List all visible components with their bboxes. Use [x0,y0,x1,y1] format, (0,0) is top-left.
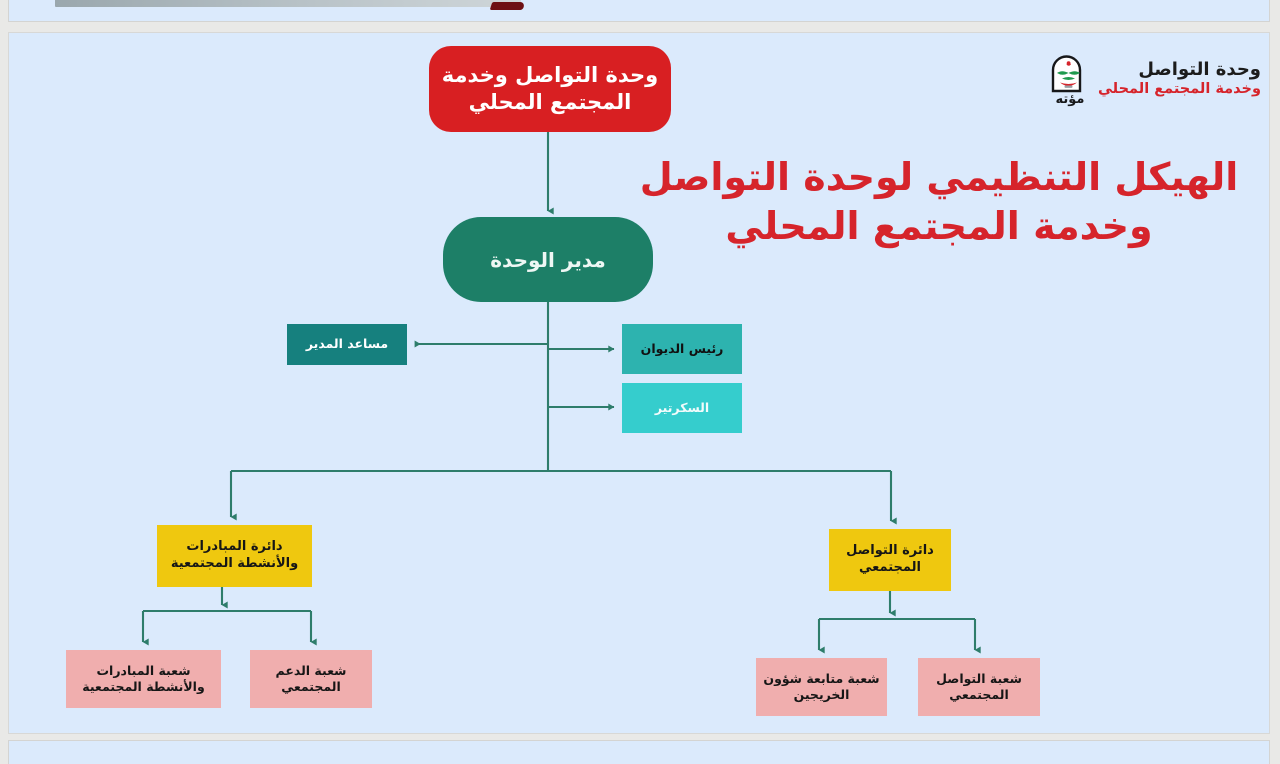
node-division-initiatives[interactable]: شعبة المبادرات والأنشطة المجتمعية [66,650,221,708]
org-chart: وحدة التواصل وخدمة المجتمع المحلي مدير ا… [9,33,1270,734]
previous-slide-accent [490,2,526,10]
node-division-community-outreach[interactable]: شعبة التواصل المجتمعي [918,658,1040,716]
organizational-chart-slide[interactable]: وحدة التواصل وخدمة المجتمع المحلي [8,32,1270,734]
previous-slide-preview[interactable] [8,0,1270,22]
node-unit-director[interactable]: مدير الوحدة [443,217,653,302]
node-department-community-outreach[interactable]: دائرة التواصل المجتمعي [829,529,951,591]
node-department-initiatives[interactable]: دائرة المبادرات والأنشطة المجتمعية [157,525,312,587]
next-slide-preview[interactable] [8,740,1270,764]
previous-slide-graphic [55,0,521,7]
node-head-of-diwan[interactable]: رئيس الديوان [622,324,742,374]
node-division-alumni-affairs[interactable]: شعبة متابعة شؤون الخريجين [756,658,887,716]
node-division-community-support[interactable]: شعبة الدعم المجتمعي [250,650,372,708]
slide-viewer[interactable]: وحدة التواصل وخدمة المجتمع المحلي [0,0,1280,764]
node-secretary[interactable]: السكرتير [622,383,742,433]
node-assistant-director[interactable]: مساعد المدير [287,324,407,365]
node-unit-root[interactable]: وحدة التواصل وخدمة المجتمع المحلي [429,46,671,132]
